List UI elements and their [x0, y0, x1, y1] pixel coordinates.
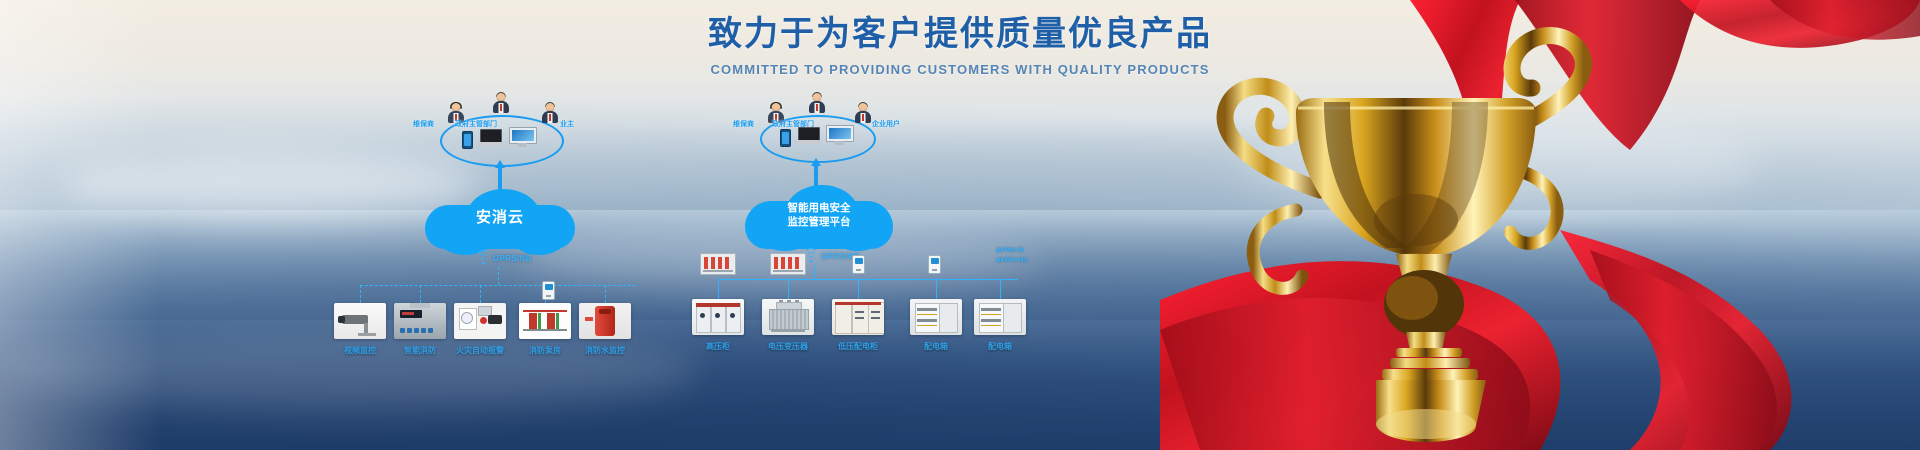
hv-cabinet-icon [692, 299, 744, 335]
bus-branch [858, 279, 859, 299]
bus-branch [605, 285, 606, 303]
person-tie-icon [862, 114, 864, 121]
alarm-panel-icon [454, 303, 506, 339]
sensor-meter-icon [852, 255, 865, 274]
wifi-signal-icon [804, 251, 818, 262]
person-tie-icon [500, 104, 502, 111]
left-network-label: GPRS/NB [493, 254, 532, 263]
device-distribution-box-2: 配电箱 [974, 299, 1026, 352]
bus-branch [788, 279, 789, 299]
label-maintenance-provider: 维保商 [733, 119, 754, 129]
headline-english: COMMITTED TO PROVIDING CUSTOMERS WITH QU… [0, 62, 1920, 77]
device-transformer: 电压变压器 [762, 299, 814, 352]
left-gprs-badge: GPRS/NB [476, 253, 532, 264]
anxiao-cloud-node: 安消云 [425, 187, 575, 249]
person-government [809, 93, 825, 113]
phone-icon [780, 129, 791, 147]
sensor-meter-icon [928, 255, 941, 274]
monitor-icon [509, 127, 535, 147]
laptop-base [795, 140, 821, 144]
device-bus [718, 279, 1018, 280]
sensor-tag-afpm-m: AFPM-M [996, 247, 1024, 254]
monitor-stand [518, 143, 527, 147]
person-body-icon [542, 111, 558, 123]
person-enterprise-user [855, 103, 871, 123]
lv-cabinet-icon [832, 299, 884, 335]
platform-label-line1: 智能用电安全 [788, 202, 851, 216]
transformer-icon [762, 299, 814, 335]
distribution-box-icon [974, 299, 1026, 335]
breaker-rack-icon [770, 253, 806, 275]
laptop-icon [477, 129, 503, 146]
label-maintenance-provider: 维保商 [413, 119, 434, 129]
device-distribution-box-1: 配电箱 [910, 299, 962, 352]
device-caption: 火灾自动报警 [454, 345, 506, 356]
person-owner [542, 103, 558, 123]
device-caption: 配电箱 [910, 341, 962, 352]
device-bus [360, 285, 636, 286]
laptop-screen [798, 127, 820, 141]
fire-safety-cloud-diagram: 维保商 政府主管部门 业主 安消云 GPRS/NB [330, 95, 660, 415]
promo-banner: 致力于为客户提供质量优良产品 COMMITTED TO PROVIDING CU… [0, 0, 1920, 450]
person-body-icon [493, 101, 509, 113]
device-fire-pump-room: 消防泵房 [519, 303, 571, 356]
device-fire-alarm: 火灾自动报警 [454, 303, 506, 356]
bus-drop [498, 267, 499, 285]
bus-branch [1000, 279, 1001, 299]
controller-icon [394, 303, 446, 339]
device-smart-firefighting: 智能消防 [394, 303, 446, 356]
device-lv-cabinet: 低压配电柜 [832, 299, 884, 352]
bus-branch [480, 285, 481, 303]
device-caption: 视频监控 [334, 345, 386, 356]
device-caption: 电压变压器 [762, 341, 814, 352]
device-caption: 低压配电柜 [832, 341, 884, 352]
sensor-tag-afpm-m1: AFPM-M1 [996, 257, 1028, 264]
headline-chinese: 致力于为客户提供质量优良产品 [0, 12, 1920, 58]
device-caption: 消防泵房 [519, 345, 571, 356]
bus-branch [420, 285, 421, 303]
wifi-signal-icon [476, 253, 490, 264]
laptop-screen [480, 129, 502, 143]
device-hv-cabinet: 高压柜 [692, 299, 744, 352]
distribution-box-icon [910, 299, 962, 335]
bus-branch [360, 285, 361, 303]
monitor-screen [509, 127, 537, 144]
laptop-base [477, 142, 503, 146]
monitor-stand [835, 141, 844, 145]
device-caption: 高压柜 [692, 341, 744, 352]
label-enterprise-user: 企业用户 [872, 119, 900, 129]
cloud-label: 安消云 [425, 187, 575, 249]
label-government-authority: 政府主管部门 [455, 119, 497, 129]
device-caption: 智能消防 [394, 345, 446, 356]
device-fire-water-monitor: 消防水监控 [579, 303, 631, 356]
bus-drop [814, 265, 815, 279]
monitor-screen [826, 125, 854, 142]
phone-icon [462, 131, 473, 149]
hydrant-icon [579, 303, 631, 339]
device-caption: 消防水监控 [579, 345, 631, 356]
laptop-icon [795, 127, 821, 144]
fire-pump-icon [519, 303, 571, 339]
label-owner: 业主 [560, 119, 574, 129]
breaker-rack-icon [700, 253, 736, 275]
bus-branch [936, 279, 937, 299]
monitor-icon [826, 125, 852, 145]
person-body-icon [809, 101, 825, 113]
platform-label-line2: 监控管理平台 [788, 216, 851, 230]
smart-power-safety-diagram: 维保商 政府主管部门 企业用户 智能用电安全 监控管理平台 [700, 95, 1080, 415]
banner-headline-block: 致力于为客户提供质量优良产品 COMMITTED TO PROVIDING CU… [0, 12, 1920, 77]
device-video-surveillance: 视频监控 [334, 303, 386, 356]
power-platform-node: 智能用电安全 监控管理平台 [745, 183, 893, 249]
person-body-icon [855, 111, 871, 123]
person-tie-icon [816, 104, 818, 111]
person-tie-icon [549, 114, 551, 121]
person-government [493, 93, 509, 113]
sensor-meter-icon [542, 281, 555, 300]
camera-icon [334, 303, 386, 339]
device-caption: 配电箱 [974, 341, 1026, 352]
bus-branch [718, 279, 719, 299]
